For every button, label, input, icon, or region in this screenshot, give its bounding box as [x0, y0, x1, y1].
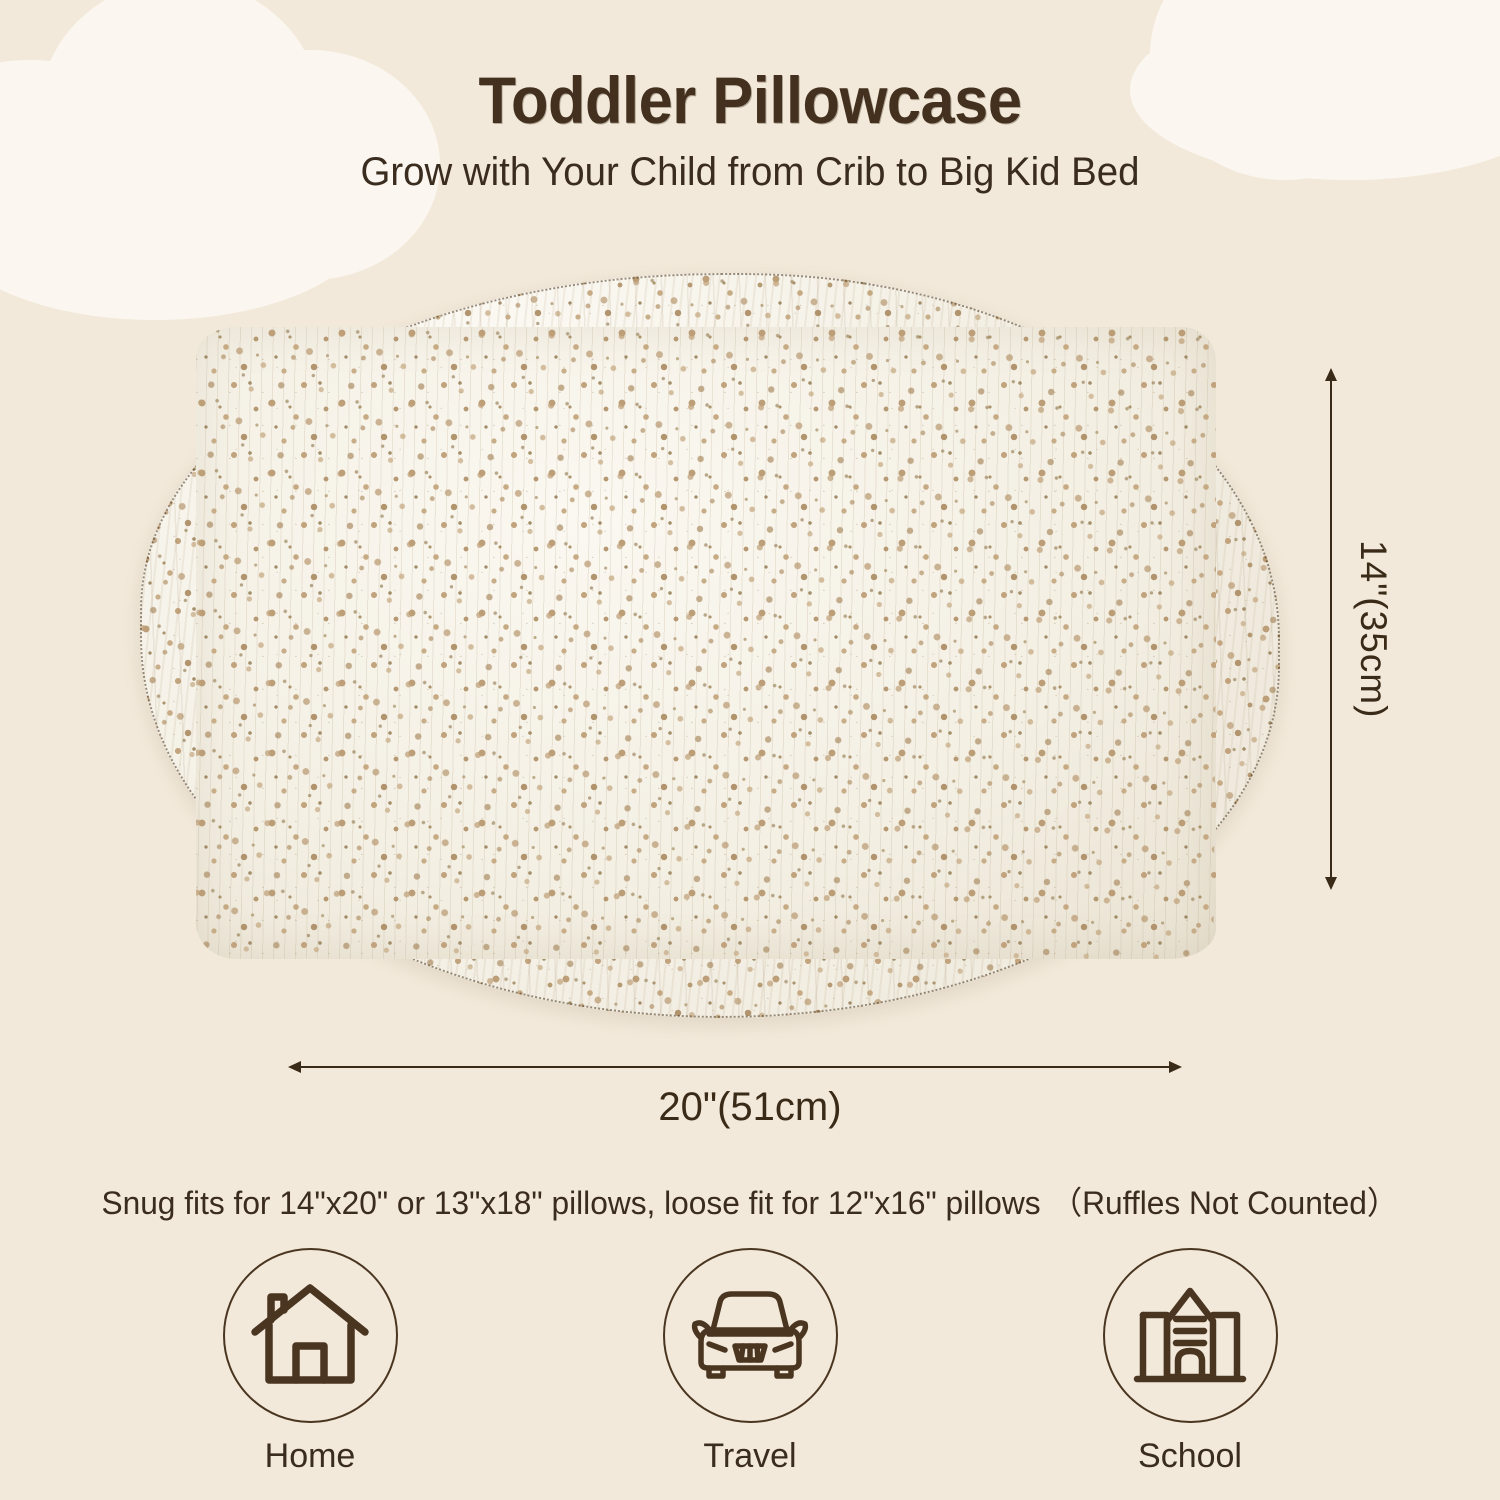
width-dimension-arrow — [288, 1061, 1182, 1073]
icon-ring — [663, 1248, 838, 1423]
arrow-head-right-icon — [1169, 1061, 1182, 1073]
feature-icon-row: Home Travel — [0, 1248, 1500, 1476]
fit-note-parenthetical: （Ruffles Not Counted） — [1050, 1185, 1398, 1221]
leaf-sprig-pattern-body — [196, 327, 1216, 959]
width-dimension-label: 20"(51cm) — [0, 1085, 1500, 1130]
feature-label: School — [1095, 1437, 1285, 1476]
fit-note-text: Snug fits for 14"x20" or 13"x18" pillows… — [101, 1185, 1040, 1221]
dimension-line — [296, 1066, 1174, 1068]
height-dimension-label: 14"(35cm) — [1352, 540, 1394, 718]
school-icon — [1133, 1281, 1247, 1391]
height-dimension-arrow — [1325, 368, 1337, 890]
page-subtitle: Grow with Your Child from Crib to Big Ki… — [30, 150, 1470, 195]
car-icon — [687, 1286, 813, 1386]
pillowcase-body — [196, 327, 1216, 959]
product-image-pillowcase — [118, 255, 1298, 1035]
dimension-line — [1330, 376, 1332, 882]
fit-note: Snug fits for 14"x20" or 13"x18" pillows… — [8, 1178, 1493, 1224]
icon-ring — [223, 1248, 398, 1423]
arrow-head-down-icon — [1325, 877, 1337, 890]
feature-label: Travel — [655, 1437, 845, 1476]
feature-label: Home — [215, 1437, 405, 1476]
house-icon — [251, 1280, 369, 1392]
icon-ring — [1103, 1248, 1278, 1423]
feature-home: Home — [215, 1248, 405, 1476]
header: Toddler Pillowcase Grow with Your Child … — [0, 0, 1500, 195]
feature-travel: Travel — [655, 1248, 845, 1476]
feature-school: School — [1095, 1248, 1285, 1476]
page-title: Toddler Pillowcase — [53, 62, 1448, 138]
